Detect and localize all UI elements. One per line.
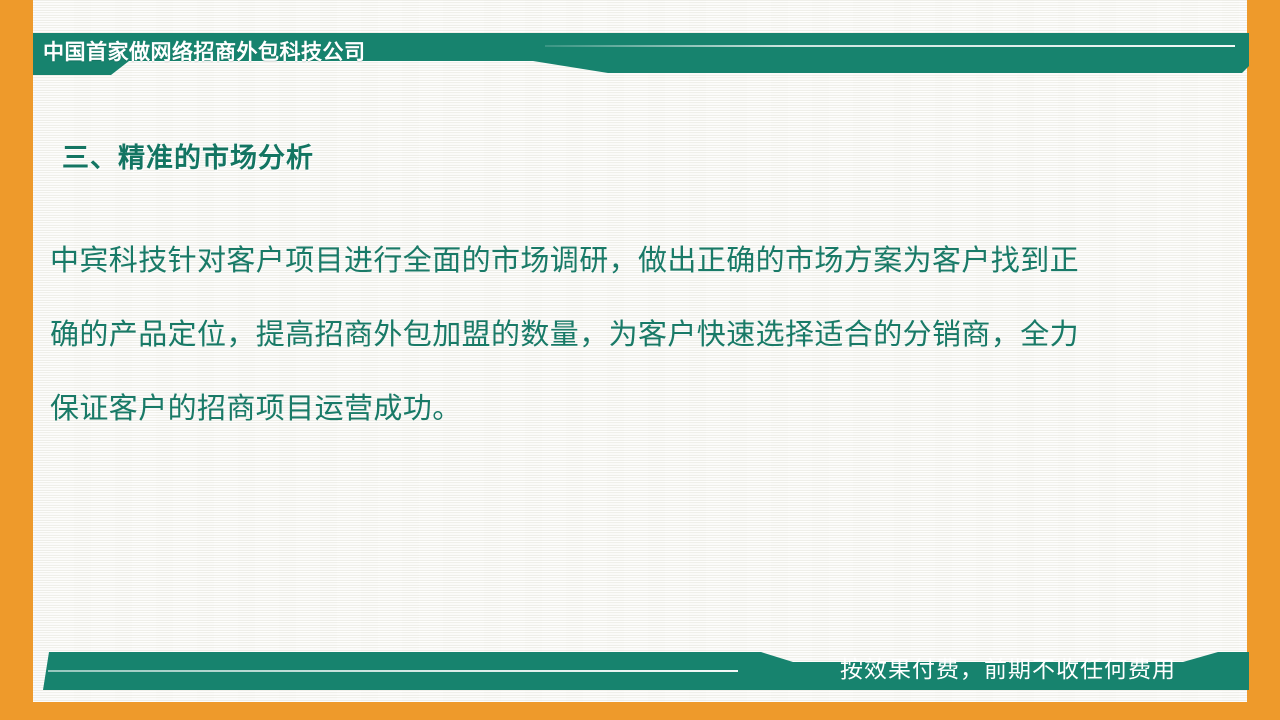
paragraph-line-3: 保证客户的招商项目运营成功。 [50, 372, 1185, 446]
body-paragraph: 中宾科技针对客户项目进行全面的市场调研，做出正确的市场方案为客户找到正 确的产品… [50, 224, 1185, 446]
section-heading: 三、精准的市场分析 [62, 136, 314, 175]
footer-slogan: 按效果付费，前期不收任何费用 [840, 650, 1176, 688]
footer-accent-line [48, 670, 738, 672]
paragraph-line-2: 确的产品定位，提高招商外包加盟的数量，为客户快速选择适合的分销商，全力 [50, 298, 1185, 372]
presentation-slide: 中国首家做网络招商外包科技公司 三、精准的市场分析 中宾科技针对客户项目进行全面… [0, 0, 1280, 720]
header-title: 中国首家做网络招商外包科技公司 [43, 34, 366, 72]
header-accent-line [545, 45, 1235, 47]
paragraph-line-1: 中宾科技针对客户项目进行全面的市场调研，做出正确的市场方案为客户找到正 [50, 224, 1185, 298]
